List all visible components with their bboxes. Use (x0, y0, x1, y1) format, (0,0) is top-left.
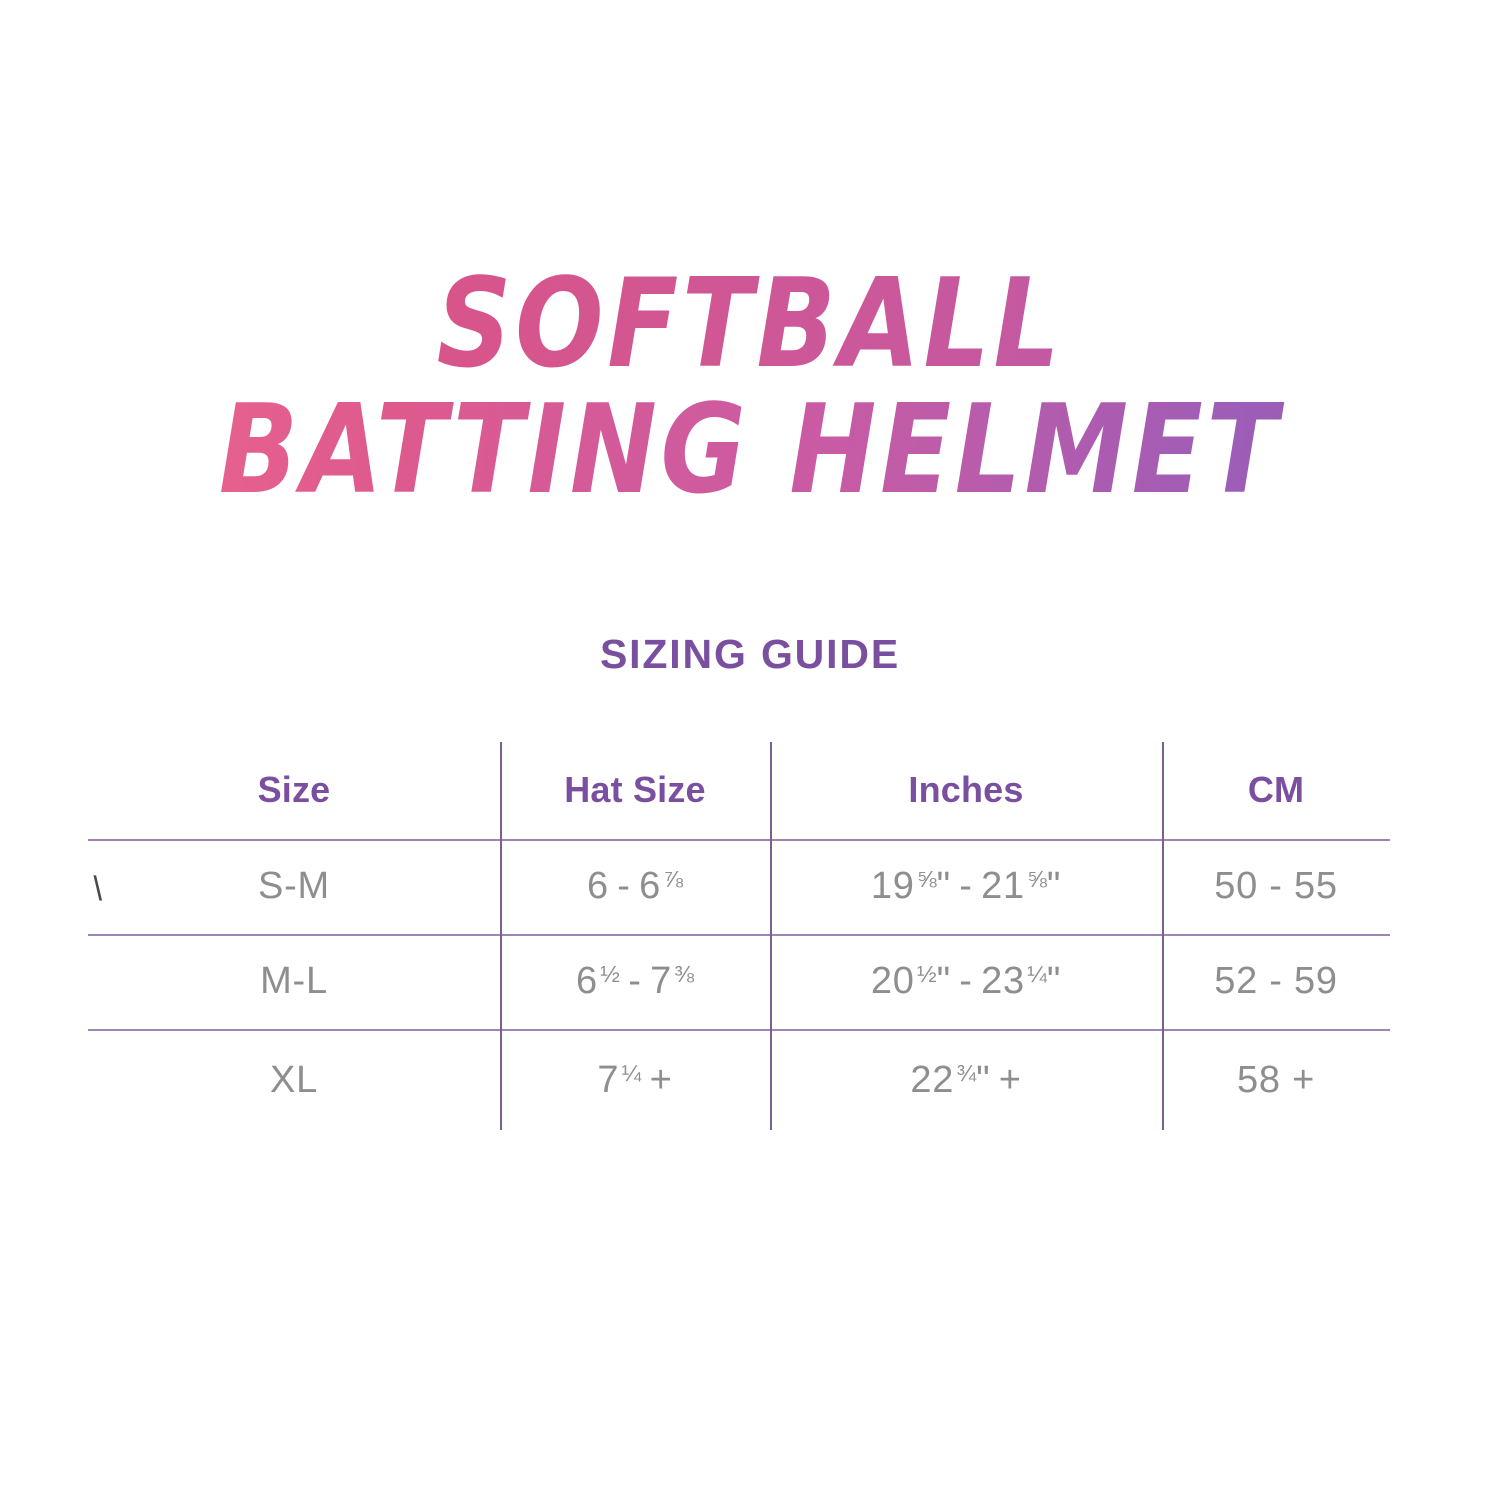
inches-separator: - (959, 960, 972, 1003)
inches-whole-1: 22 (910, 1059, 954, 1102)
inches-fraction-1: ⅝ (915, 866, 937, 893)
page-title: SOFTBALL BATTING HELMET (0, 262, 1500, 492)
sizing-table: \ Size Hat Size Inches CM S-M 6 - 6 ⅞ (88, 740, 1390, 1132)
table-header-row: Size Hat Size Inches CM (88, 740, 1390, 839)
cell-size: S-M (88, 839, 500, 934)
hat-whole-2: 6 (639, 865, 661, 908)
table-row: S-M 6 - 6 ⅞ 19 ⅝ " - 21 ⅝ " 50 - 55 (88, 839, 1390, 934)
column-header-hat-size: Hat Size (500, 740, 770, 839)
column-header-cm: CM (1162, 740, 1390, 839)
cell-hat-size: 6 - 6 ⅞ (500, 839, 770, 934)
inches-mark-1: " (976, 1059, 990, 1102)
inches-whole-1: 19 (871, 865, 915, 908)
hat-fraction-1: ½ (598, 961, 620, 988)
hat-whole-1: 7 (597, 1059, 619, 1102)
inches-fraction-1: ½ (915, 961, 937, 988)
hat-fraction-1: ¼ (619, 1060, 641, 1087)
inches-separator: - (959, 865, 972, 908)
inches-mark-1: " (937, 960, 951, 1003)
table-row: XL 7 ¼ + 22 ¾ " + 58 + (88, 1029, 1390, 1132)
hat-plus-suffix: + (650, 1059, 673, 1102)
cell-inches: 22 ¾ " + (770, 1029, 1162, 1132)
title-line-batting-helmet: BATTING HELMET (0, 388, 1500, 511)
cell-size: XL (88, 1029, 500, 1132)
column-header-inches: Inches (770, 740, 1162, 839)
cell-inches: 20 ½ " - 23 ¼ " (770, 934, 1162, 1029)
inches-whole-2: 23 (981, 960, 1025, 1003)
hat-whole-2: 7 (650, 960, 672, 1003)
cell-hat-size: 7 ¼ + (500, 1029, 770, 1132)
cell-cm: 58 + (1162, 1029, 1390, 1132)
title-line-softball: SOFTBALL (0, 262, 1500, 385)
cell-cm: 52 - 59 (1162, 934, 1390, 1029)
inches-fraction-1: ¾ (954, 1060, 976, 1087)
inches-whole-1: 20 (871, 960, 915, 1003)
cell-inches: 19 ⅝ " - 21 ⅝ " (770, 839, 1162, 934)
hat-fraction-2: ⅜ (672, 961, 694, 988)
sizing-guide-subtitle: SIZING GUIDE (0, 631, 1500, 678)
hat-whole-1: 6 (587, 865, 609, 908)
inches-mark-2: " (1047, 865, 1061, 908)
cell-hat-size: 6 ½ - 7 ⅜ (500, 934, 770, 1029)
hat-fraction-2: ⅞ (661, 866, 683, 893)
table-row: M-L 6 ½ - 7 ⅜ 20 ½ " - 23 ¼ " 52 - (88, 934, 1390, 1029)
inches-plus-suffix: + (999, 1059, 1022, 1102)
inches-mark-1: " (937, 865, 951, 908)
column-header-size: Size (88, 740, 500, 839)
inches-whole-2: 21 (981, 865, 1025, 908)
hat-separator: - (617, 865, 630, 908)
inches-fraction-2: ¼ (1025, 961, 1047, 988)
hat-separator: - (628, 960, 641, 1003)
inches-mark-2: " (1047, 960, 1061, 1003)
hat-whole-1: 6 (576, 960, 598, 1003)
inches-fraction-2: ⅝ (1025, 866, 1047, 893)
cell-cm: 50 - 55 (1162, 839, 1390, 934)
cell-size: M-L (88, 934, 500, 1029)
